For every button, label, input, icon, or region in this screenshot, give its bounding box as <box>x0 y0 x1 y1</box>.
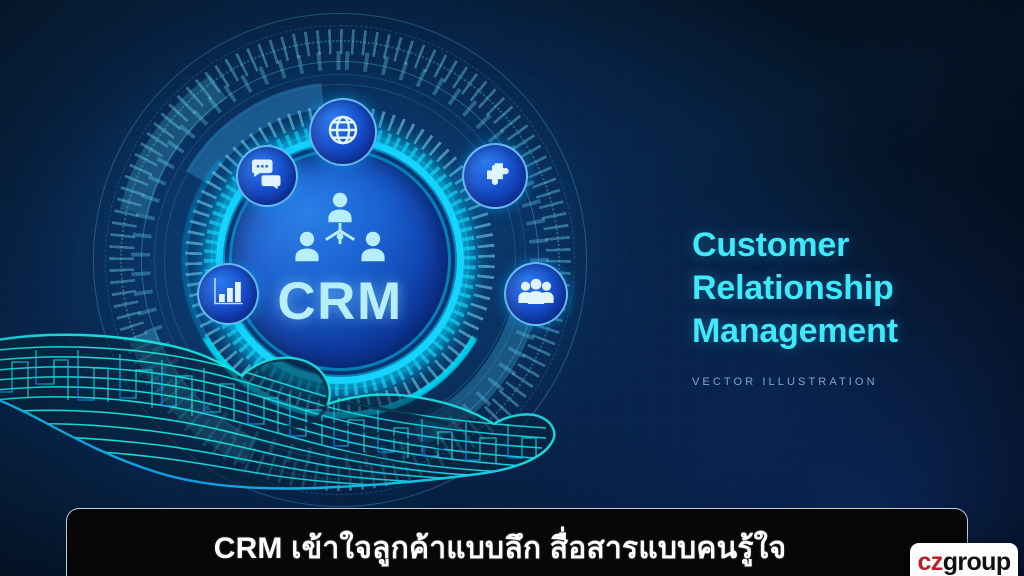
chat-bubbles-icon <box>250 159 284 194</box>
hud-ring-mid <box>141 61 539 459</box>
bar-chart-icon <box>212 277 244 312</box>
hud-ring-tick-base <box>164 84 516 436</box>
crm-banner-graphic: CRM <box>0 0 1024 576</box>
org-chart-three-people-icon <box>292 192 388 271</box>
hud-ring-dotted <box>120 40 560 480</box>
hud-glow-arc <box>181 101 499 419</box>
user-group-icon <box>518 278 554 311</box>
logo-text-group: group <box>943 548 1011 576</box>
puzzle-piece-icon <box>478 157 512 196</box>
crm-hub: CRM <box>216 136 464 384</box>
satellite-puzzle-bubble[interactable] <box>462 143 528 209</box>
hud-arc-segment-3 <box>162 82 518 438</box>
hud-ring-mid-2 <box>154 74 526 446</box>
hud-arc-segment-2 <box>136 56 544 464</box>
bottom-banner: CRM เข้าใจลูกค้าแบบลึก สื่อสารแบบคนรู้ใจ <box>66 508 968 576</box>
crm-hub-outer-ring <box>216 136 464 384</box>
crm-hub-glow <box>198 118 482 402</box>
hud-ring-cluster: CRM <box>90 10 590 510</box>
logo-text-cz: cz <box>917 548 942 576</box>
hud-tick-ring-inner <box>185 105 495 415</box>
satellite-chat-bubble[interactable] <box>236 145 298 207</box>
hud-arc-segment-1 <box>114 34 566 486</box>
hud-ring-outer <box>93 13 587 507</box>
headline-line-1: Customer <box>692 224 992 267</box>
crm-hub-disc: CRM <box>232 152 448 368</box>
digital-circuit-hand-icon <box>0 320 556 520</box>
hud-tick-ring-mid <box>131 51 549 469</box>
crm-center-label: CRM <box>277 275 402 328</box>
hud-tick-ring-core <box>204 124 476 396</box>
hud-ring-inner <box>211 131 469 389</box>
globe-icon <box>326 113 360 152</box>
satellite-globe-bubble[interactable] <box>309 98 377 166</box>
crm-hub-inner-gap-ring <box>225 145 455 375</box>
headline-line-2: Relationship <box>692 267 992 310</box>
banner-headline-text: CRM เข้าใจลูกค้าแบบลึก สื่อสารแบบคนรู้ใจ <box>214 525 787 572</box>
czgroup-logo: czgroup SINCE 2010 <box>910 543 1018 576</box>
hud-tick-ring-outer <box>109 29 571 491</box>
headline-block: Customer Relationship Management VECTOR … <box>692 224 992 388</box>
satellite-users-bubble[interactable] <box>504 262 568 326</box>
headline-line-3: Management <box>692 310 992 353</box>
hud-ring-outer-dashed <box>105 25 575 495</box>
logo-wordmark: czgroup <box>917 550 1010 575</box>
satellite-chart-bubble[interactable] <box>197 263 259 325</box>
headline-subtitle: VECTOR ILLUSTRATION <box>692 376 992 388</box>
